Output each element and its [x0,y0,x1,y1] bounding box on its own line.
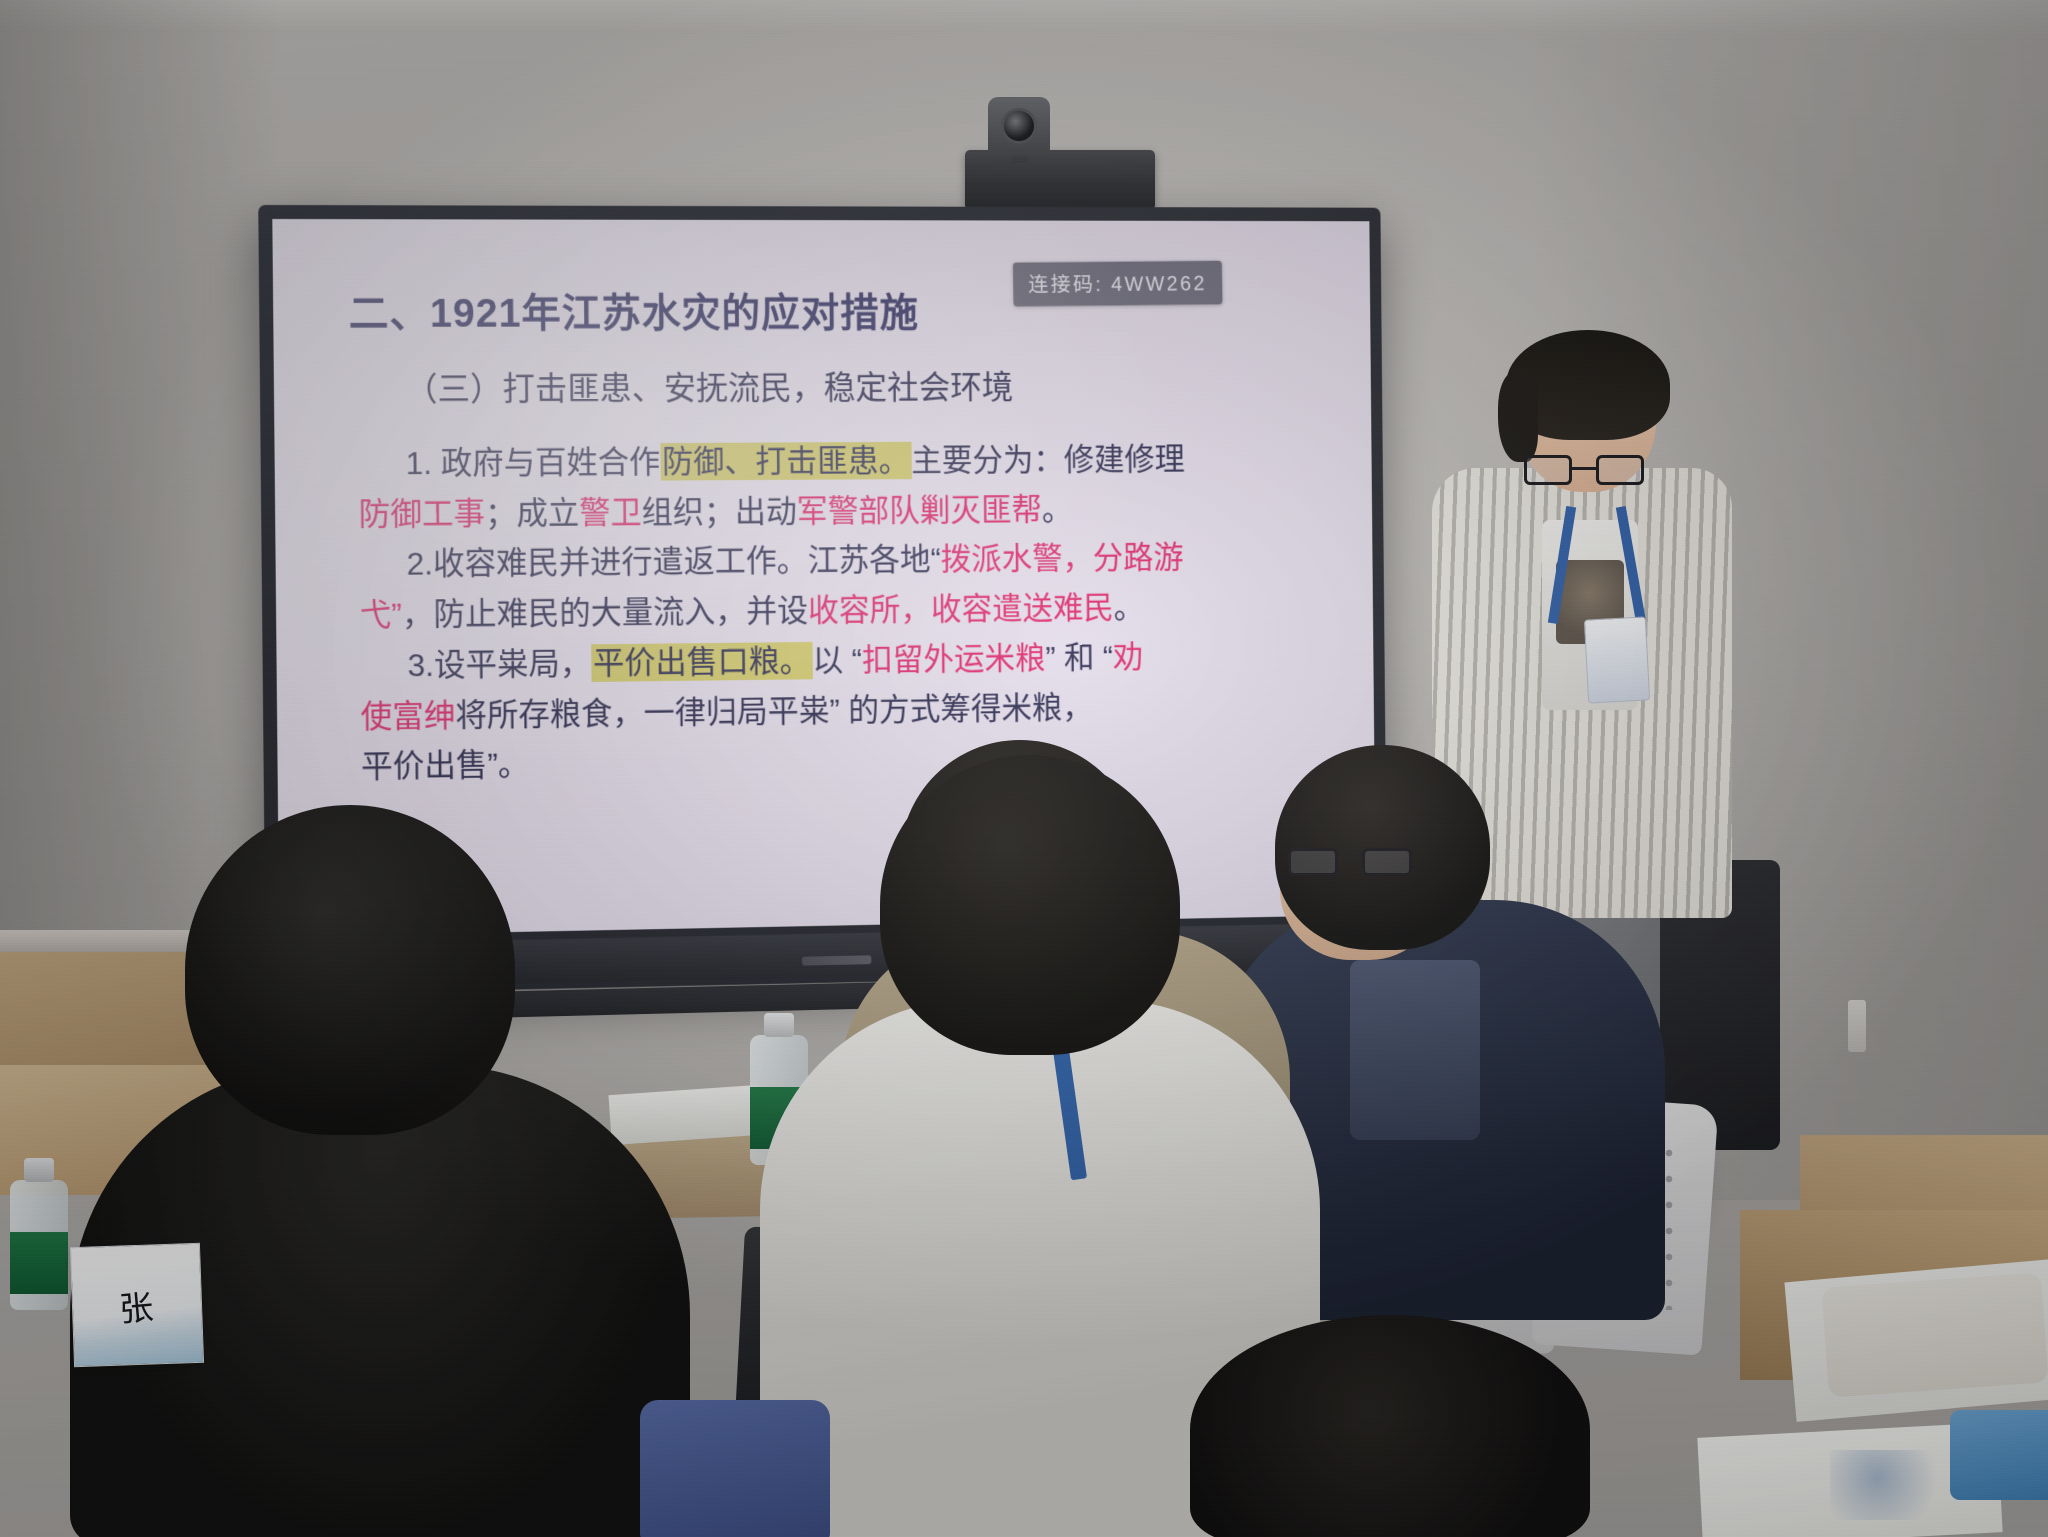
connection-code-badge: 连接码: 4WW262 [1013,261,1222,307]
desk-papers [608,1085,761,1145]
camera-mount-bracket [965,150,1155,210]
slide-subtitle: （三）打击匪患、安抚流民，稳定社会环境 [405,360,1315,410]
slide-text-segment: 扣留外运米粮 [862,640,1046,677]
slide-paragraph-p3b: 使富绅将所存粮食，一律归局平粜” 的方式筹得米粮， [360,681,1318,740]
slide-text-segment: 主要分为：修建修理 [911,441,1185,478]
slide-paragraph-p2: 2.收容难民并进行遣返工作。江苏各地“拨派水警，分路游 [377,534,1317,588]
glasses-lens-right [1596,455,1644,485]
slide-paragraph-p3c: 平价出售”。 [361,730,1319,790]
blue-folder [1950,1410,2048,1500]
slide-paragraph-p2b: 弋”，防止难民的大量流入，并设收容所，收容遣送难民。 [359,583,1317,639]
slide-text-segment: 收容所，收容遣送难民 [808,590,1114,628]
slide-text-segment: 以 “ [812,642,862,678]
slide-paragraph-p1b: 防御工事；成立警卫组织；出动军警部队剿灭匪帮。 [358,485,1316,538]
slide-text-segment: 将所存粮食，一律归局平粜” 的方式筹得米粮， [455,689,1093,733]
slide-text-segment: 2.收容难民并进行遣返工作。江苏各地“ [406,542,940,582]
slide-text-segment: ，防止难民的大量流入，并设 [402,593,809,633]
display-brand-logo [801,955,870,965]
presenter-badge-card [1584,616,1650,703]
name-card-text: 张 [117,1279,157,1331]
slide-paragraph-p3: 3.设平粜局，平价出售口粮。以 “扣留外运米粮” 和 “劝 [378,632,1318,689]
slide-text-segment: 组织；出动 [642,493,797,530]
slide-text-segment: ” 和 “ [1045,639,1113,675]
seat-cushion [1821,1272,2048,1397]
display-screen[interactable]: 二、1921年江苏水灾的应对措施 （三）打击匪患、安抚流民，稳定社会环境 1. … [272,219,1375,937]
audience-center-front-hair [880,755,1180,1055]
slide-text-segment: 警卫 [579,494,642,530]
slide-text-segment: 弋” [359,597,402,633]
glasses-bridge [1572,467,1598,470]
presenter-hair-side [1498,372,1538,462]
audience-foreground-hair [1190,1315,1590,1537]
slide-text-segment: ；成立 [485,495,580,531]
glasses-lens-right [1362,848,1412,876]
slide-text-segment: 拨派水警，分路游 [941,540,1184,577]
slide-body: 1. 政府与百姓合作防御、打击匪患。主要分为：修建修理防御工事；成立警卫组织；出… [342,436,1318,791]
presenter-glasses-icon [1522,455,1648,485]
slide-text-segment: 。 [1114,590,1145,625]
slide-text-segment: 防御工事 [358,495,485,532]
scene-root: 二、1921年江苏水灾的应对措施 （三）打击匪患、安抚流民，稳定社会环境 1. … [0,0,2048,1537]
bottle-label [10,1232,68,1294]
bottle-cap [764,1013,794,1037]
glasses-lens-left [1288,848,1338,876]
wall-socket [1848,1000,1866,1052]
slide-text-segment: 。 [1042,491,1073,526]
slide-text-segment: 3.设平粜局， [407,645,591,683]
slide-text-segment: 劝 [1113,639,1144,674]
name-card-zhang: 张 [70,1243,204,1367]
audience-right-glasses-icon [1288,848,1418,876]
slide-text-segment: 1. 政府与百姓合作 [405,444,660,481]
bottle-cap [24,1158,54,1182]
presentation-slide: 二、1921年江苏水灾的应对措施 （三）打击匪患、安抚流民，稳定社会环境 1. … [272,219,1375,937]
slide-paragraph-p1: 1. 政府与百姓合作防御、打击匪患。主要分为：修建修理 [376,436,1316,487]
water-bottle-left [10,1180,68,1310]
slide-text-segment: 平价出售口粮。 [591,642,813,682]
glasses-lens-left [1524,455,1572,485]
slide-text-segment: 防御、打击匪患。 [660,442,911,481]
foreground-chair [640,1400,830,1537]
audience-right-inner-shirt [1350,960,1480,1140]
audience-front-left-hair [185,805,515,1135]
camera-lens-icon [1001,108,1037,144]
document-logo-icon [1830,1450,1950,1520]
slide-text-segment: 军警部队剿灭匪帮 [797,492,1042,529]
slide-text-segment: 平价出售”。 [361,747,530,785]
slide-text-segment: 使富绅 [360,697,455,734]
